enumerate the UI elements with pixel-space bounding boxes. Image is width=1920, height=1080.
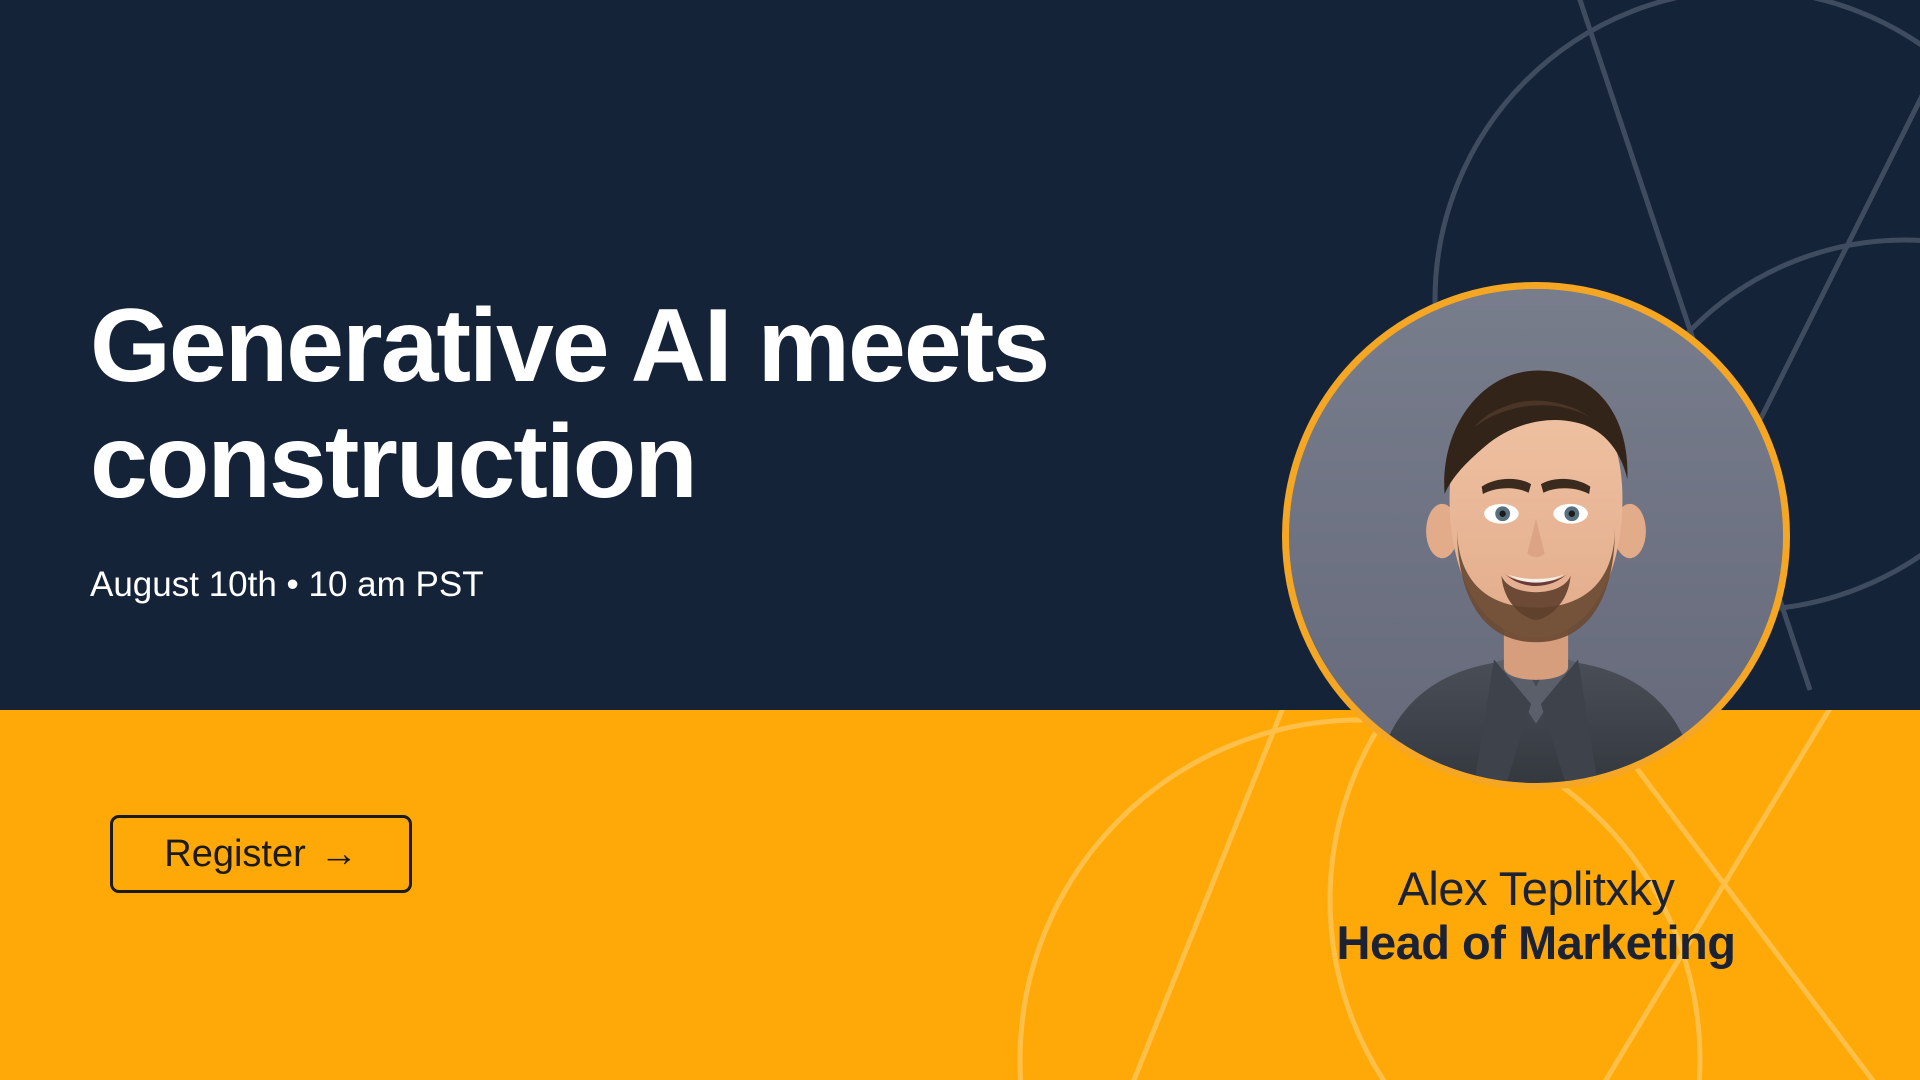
headline: Generative AI meets construction bbox=[90, 288, 1150, 521]
speaker-caption: Alex Teplitxky Head of Marketing bbox=[1036, 862, 1920, 969]
webinar-banner: Generative AI meets construction August … bbox=[0, 0, 1920, 1080]
speaker-portrait bbox=[1282, 282, 1790, 790]
register-button-label: Register bbox=[164, 833, 306, 876]
arrow-right-icon: → bbox=[320, 835, 358, 873]
speaker-role: Head of Marketing bbox=[1036, 916, 1920, 970]
headline-line-1: Generative AI meets bbox=[90, 288, 1048, 404]
headline-line-2: construction bbox=[90, 404, 1150, 520]
schedule-text: August 10th • 10 am PST bbox=[90, 565, 484, 605]
headshot-illustration bbox=[1289, 289, 1783, 783]
register-button[interactable]: Register → bbox=[110, 815, 412, 893]
speaker-name: Alex Teplitxky bbox=[1036, 862, 1920, 916]
